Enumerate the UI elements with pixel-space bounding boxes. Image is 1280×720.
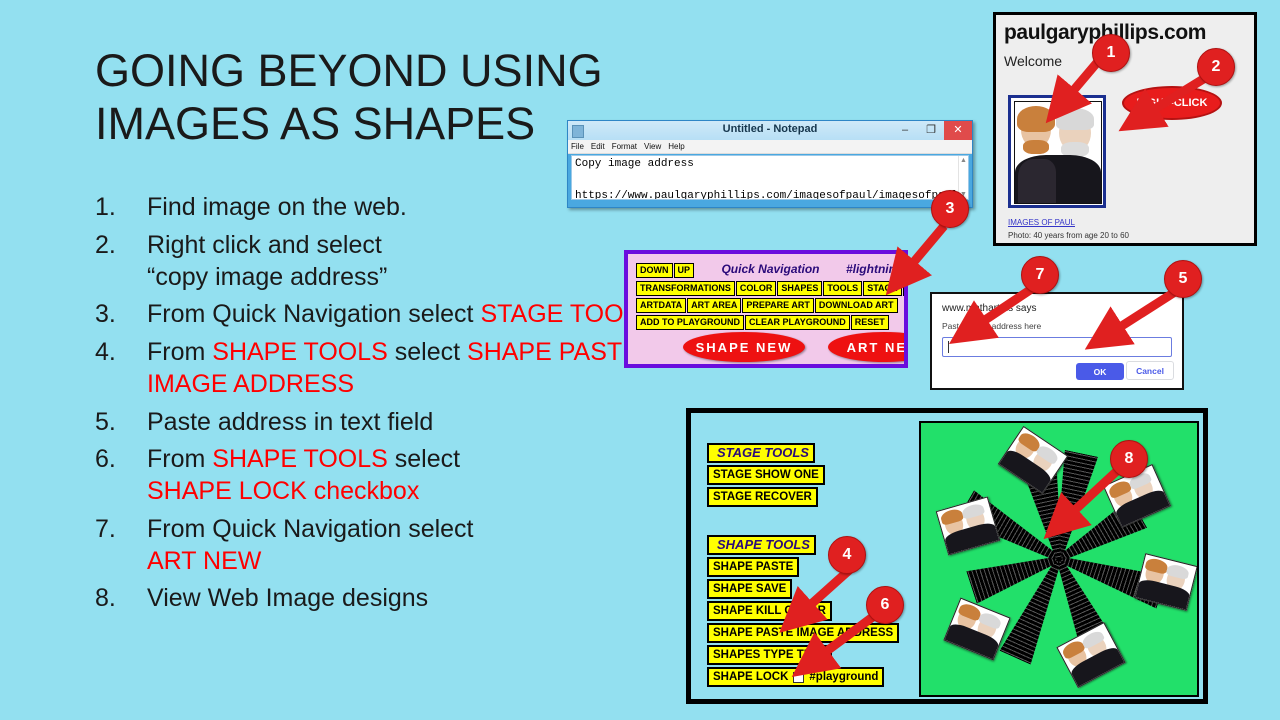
notepad-menubar[interactable]: File Edit Format View Help (568, 140, 972, 154)
step-item: 3.From Quick Navigation select STAGE TOO… (95, 299, 655, 331)
notepad-line-blank (572, 172, 968, 188)
step-text-highlight: SHAPE TOOLS (212, 338, 388, 366)
step-number: 5. (95, 407, 147, 439)
nav-button-color[interactable]: COLOR (736, 281, 777, 296)
step-text-plain: Find image on the web. (147, 193, 407, 221)
nav-button-artdata[interactable]: ARTDATA (636, 298, 686, 313)
cancel-button[interactable]: Cancel (1126, 361, 1174, 380)
tools-spacer (707, 509, 922, 535)
menu-help[interactable]: Help (668, 142, 684, 151)
shape-lock-checkbox[interactable] (793, 672, 804, 683)
badge-1: 1 (1092, 34, 1130, 72)
nav-button-tools[interactable]: TOOLS (823, 281, 862, 296)
shape-paste-image-address-button[interactable]: SHAPE PASTE IMAGE ADDRESS (707, 623, 899, 643)
step-text: Right click and select“copy image addres… (147, 230, 387, 294)
close-button[interactable]: ✕ (944, 121, 972, 140)
step-text-plain: From (147, 445, 212, 473)
dialog-prompt-label: Paste image address here (942, 321, 1182, 331)
nav-button-art-area[interactable]: ART AREA (687, 298, 741, 313)
shape-lock-row[interactable]: SHAPE LOCK #playground (707, 667, 884, 687)
step-item: 6.From SHAPE TOOLS selectSHAPE LOCK chec… (95, 444, 655, 508)
menu-format[interactable]: Format (612, 142, 637, 151)
menu-file[interactable]: File (571, 142, 584, 151)
badge-2: 2 (1197, 48, 1235, 86)
step-text-plain: From Quick Navigation select (147, 515, 474, 543)
stage-tools-heading: STAGE TOOLS (707, 443, 815, 463)
step-number: 4. (95, 337, 147, 369)
paul-photo-thumbnail[interactable] (1008, 95, 1106, 208)
shapes-type-text-button[interactable]: SHAPES TYPE TEXT (707, 645, 832, 665)
art-photo-card (998, 425, 1068, 493)
notepad-line-2: https://www.paulgaryphillips.com/imageso… (572, 188, 968, 200)
step-number: 2. (95, 230, 147, 262)
badge-8: 8 (1110, 440, 1148, 478)
quicknav-heading: Quick Navigation (721, 262, 819, 276)
stage-show-one-button[interactable]: STAGE SHOW ONE (707, 465, 825, 485)
step-number: 1. (95, 192, 147, 224)
input-caret (948, 341, 949, 353)
nav-button-reset[interactable]: RESET (851, 315, 889, 330)
title-line-1: GOING BEYOND USING (95, 44, 695, 97)
right-click-callout: RIGHT-CLICK (1122, 86, 1222, 120)
dialog-host-label: www.mathart.us says (942, 303, 1182, 314)
shape-save-button[interactable]: SHAPE SAVE (707, 579, 792, 599)
step-number: 7. (95, 514, 147, 546)
step-item: 7.From Quick Navigation selectART NEW (95, 514, 655, 578)
step-text-plain: select (388, 445, 460, 473)
step-item: 8.View Web Image designs (95, 583, 655, 615)
step-text: From SHAPE TOOLS select SHAPE PASTE IMAG… (147, 337, 655, 401)
quicknav-hashtag: #lightning (846, 262, 903, 276)
stage-recover-button[interactable]: STAGE RECOVER (707, 487, 818, 507)
nav-button-clear-playground[interactable]: CLEAR PLAYGROUND (745, 315, 850, 330)
art-photo-card (936, 497, 1001, 556)
art-stage-canvas[interactable] (919, 421, 1199, 697)
steps-list: 1.Find image on the web.2.Right click an… (95, 192, 655, 621)
quicknav-row-3[interactable]: ADD TO PLAYGROUNDCLEAR PLAYGROUNDRESET (636, 312, 890, 330)
nav-button-stage[interactable]: STAGE (863, 281, 901, 296)
art-photo-card (1056, 622, 1125, 688)
step-number: 8. (95, 583, 147, 615)
nav-button-flip[interactable]: FLIP (903, 281, 908, 296)
step-number: 6. (95, 444, 147, 476)
shape-new-button[interactable]: SHAPE NEW (683, 332, 805, 362)
step-text: View Web Image designs (147, 583, 428, 615)
quicknav-row-0[interactable]: DOWNUP Quick Navigation #lightning (636, 260, 903, 278)
notepad-titlebar[interactable]: Untitled - Notepad – ❐ ✕ (568, 121, 972, 140)
photo-caption: Photo: 40 years from age 20 to 60 (1008, 231, 1129, 240)
nav-button-shapes[interactable]: SHAPES (777, 281, 822, 296)
step-text: From Quick Navigation selectART NEW (147, 514, 474, 578)
nav-button-download-art[interactable]: DOWNLOAD ART (815, 298, 898, 313)
step-item: 2.Right click and select“copy image addr… (95, 230, 655, 294)
step-text-plain: From (147, 338, 212, 366)
notepad-line-1: Copy image address (572, 156, 968, 172)
shape-lock-label: SHAPE LOCK (713, 669, 788, 685)
step-text-plain: View Web Image designs (147, 584, 428, 612)
badge-5: 5 (1164, 260, 1202, 298)
quick-navigation-panel[interactable]: DOWNUP Quick Navigation #lightning TRANS… (624, 250, 908, 368)
photo-inner (1014, 101, 1102, 204)
step-item: 5.Paste address in text field (95, 407, 655, 439)
art-new-button[interactable]: ART NEW (828, 332, 908, 362)
badge-7: 7 (1021, 256, 1059, 294)
notepad-window[interactable]: Untitled - Notepad – ❐ ✕ File Edit Forma… (567, 120, 973, 208)
shape-kill-color-button[interactable]: SHAPE KILL COLOR (707, 601, 832, 621)
image-address-input[interactable] (942, 337, 1172, 357)
step-text-plain: Right click and select (147, 231, 382, 259)
step-text-highlight: SHAPE LOCK checkbox (147, 477, 419, 505)
badge-3: 3 (931, 190, 969, 228)
step-item: 4.From SHAPE TOOLS select SHAPE PASTE IM… (95, 337, 655, 401)
art-photo-card (944, 598, 1011, 661)
minimize-button[interactable]: – (892, 121, 918, 140)
nav-button-prepare-art[interactable]: PREPARE ART (742, 298, 814, 313)
shape-lock-hashtag: #playground (809, 669, 878, 685)
nav-button-add-to-playground[interactable]: ADD TO PLAYGROUND (636, 315, 744, 330)
nav-button-up[interactable]: UP (674, 263, 695, 278)
step-text-plain: select (388, 338, 467, 366)
images-of-paul-link[interactable]: IMAGES OF PAUL (1008, 218, 1075, 227)
nav-button-transformations[interactable]: TRANSFORMATIONS (636, 281, 735, 296)
shape-paste-button[interactable]: SHAPE PASTE (707, 557, 799, 577)
badge-4: 4 (828, 536, 866, 574)
step-text: Paste address in text field (147, 407, 433, 439)
shape-tools-heading: SHAPE TOOLS (707, 535, 816, 555)
tools-column[interactable]: STAGE TOOLS STAGE SHOW ONE STAGE RECOVER… (707, 443, 922, 689)
step-text: From SHAPE TOOLS selectSHAPE LOCK checkb… (147, 444, 460, 508)
quicknav-row-1[interactable]: TRANSFORMATIONSCOLORSHAPESTOOLSSTAGEFLIP (636, 278, 908, 296)
site-title: paulgaryphillips.com (1004, 21, 1254, 45)
badge-6: 6 (866, 586, 904, 624)
step-text-plain: Paste address in text field (147, 408, 433, 436)
arrow-3 (902, 226, 944, 276)
step-text: Find image on the web. (147, 192, 407, 224)
step-text-plain: “copy image address” (147, 263, 387, 291)
menu-edit[interactable]: Edit (591, 142, 605, 151)
maximize-button[interactable]: ❐ (918, 121, 944, 140)
step-number: 3. (95, 299, 147, 331)
step-text-plain: From Quick Navigation select (147, 300, 480, 328)
step-text: From Quick Navigation select STAGE TOOLS (147, 299, 654, 331)
art-photo-card (1134, 554, 1198, 612)
step-text-highlight: ART NEW (147, 547, 261, 575)
step-text-highlight: SHAPE TOOLS (212, 445, 388, 473)
menu-view[interactable]: View (644, 142, 661, 151)
nav-button-down[interactable]: DOWN (636, 263, 673, 278)
notepad-text-area[interactable]: Copy image address https://www.paulgaryp… (571, 155, 969, 200)
paste-image-address-dialog[interactable]: www.mathart.us says Paste image address … (930, 292, 1184, 390)
ok-button[interactable]: OK (1076, 363, 1124, 380)
quicknav-row-2[interactable]: ARTDATAART AREAPREPARE ARTDOWNLOAD ART (636, 295, 899, 313)
scroll-up-icon[interactable]: ▲ (959, 156, 968, 165)
